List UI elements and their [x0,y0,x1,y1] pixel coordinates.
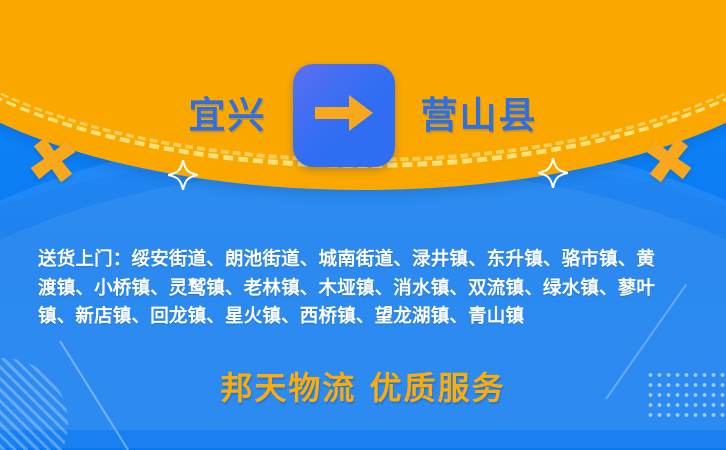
logistics-route-banner: 宜兴 营山县 送货上门：绥安街道、朗池街道、城南街道、渌井镇、东升镇、骆市镇、黄… [0,0,726,450]
delivery-line-1: 送货上门：绥安街道、朗池街道、城南街道、渌井镇、东升镇、骆市镇、黄 [38,246,692,275]
arrow-right-icon [313,89,375,141]
delivery-coverage-text: 送货上门：绥安街道、朗池街道、城南街道、渌井镇、东升镇、骆市镇、黄 渡镇、小桥镇… [38,246,692,332]
company-slogan: 邦天物流 优质服务 [0,363,726,409]
delivery-line-2: 渡镇、小桥镇、灵鹫镇、老林镇、木垭镇、消水镇、双流镇、绿水镇、蓼叶 [38,275,692,304]
route-arrow-box [293,64,395,167]
destination-city-label: 营山县 [421,97,538,134]
delivery-line-3: 镇、新店镇、回龙镇、星火镇、西桥镇、望龙湖镇、青山镇 [38,303,692,332]
origin-city-label: 宜兴 [189,97,267,134]
route-header: 宜兴 营山县 [0,60,726,170]
